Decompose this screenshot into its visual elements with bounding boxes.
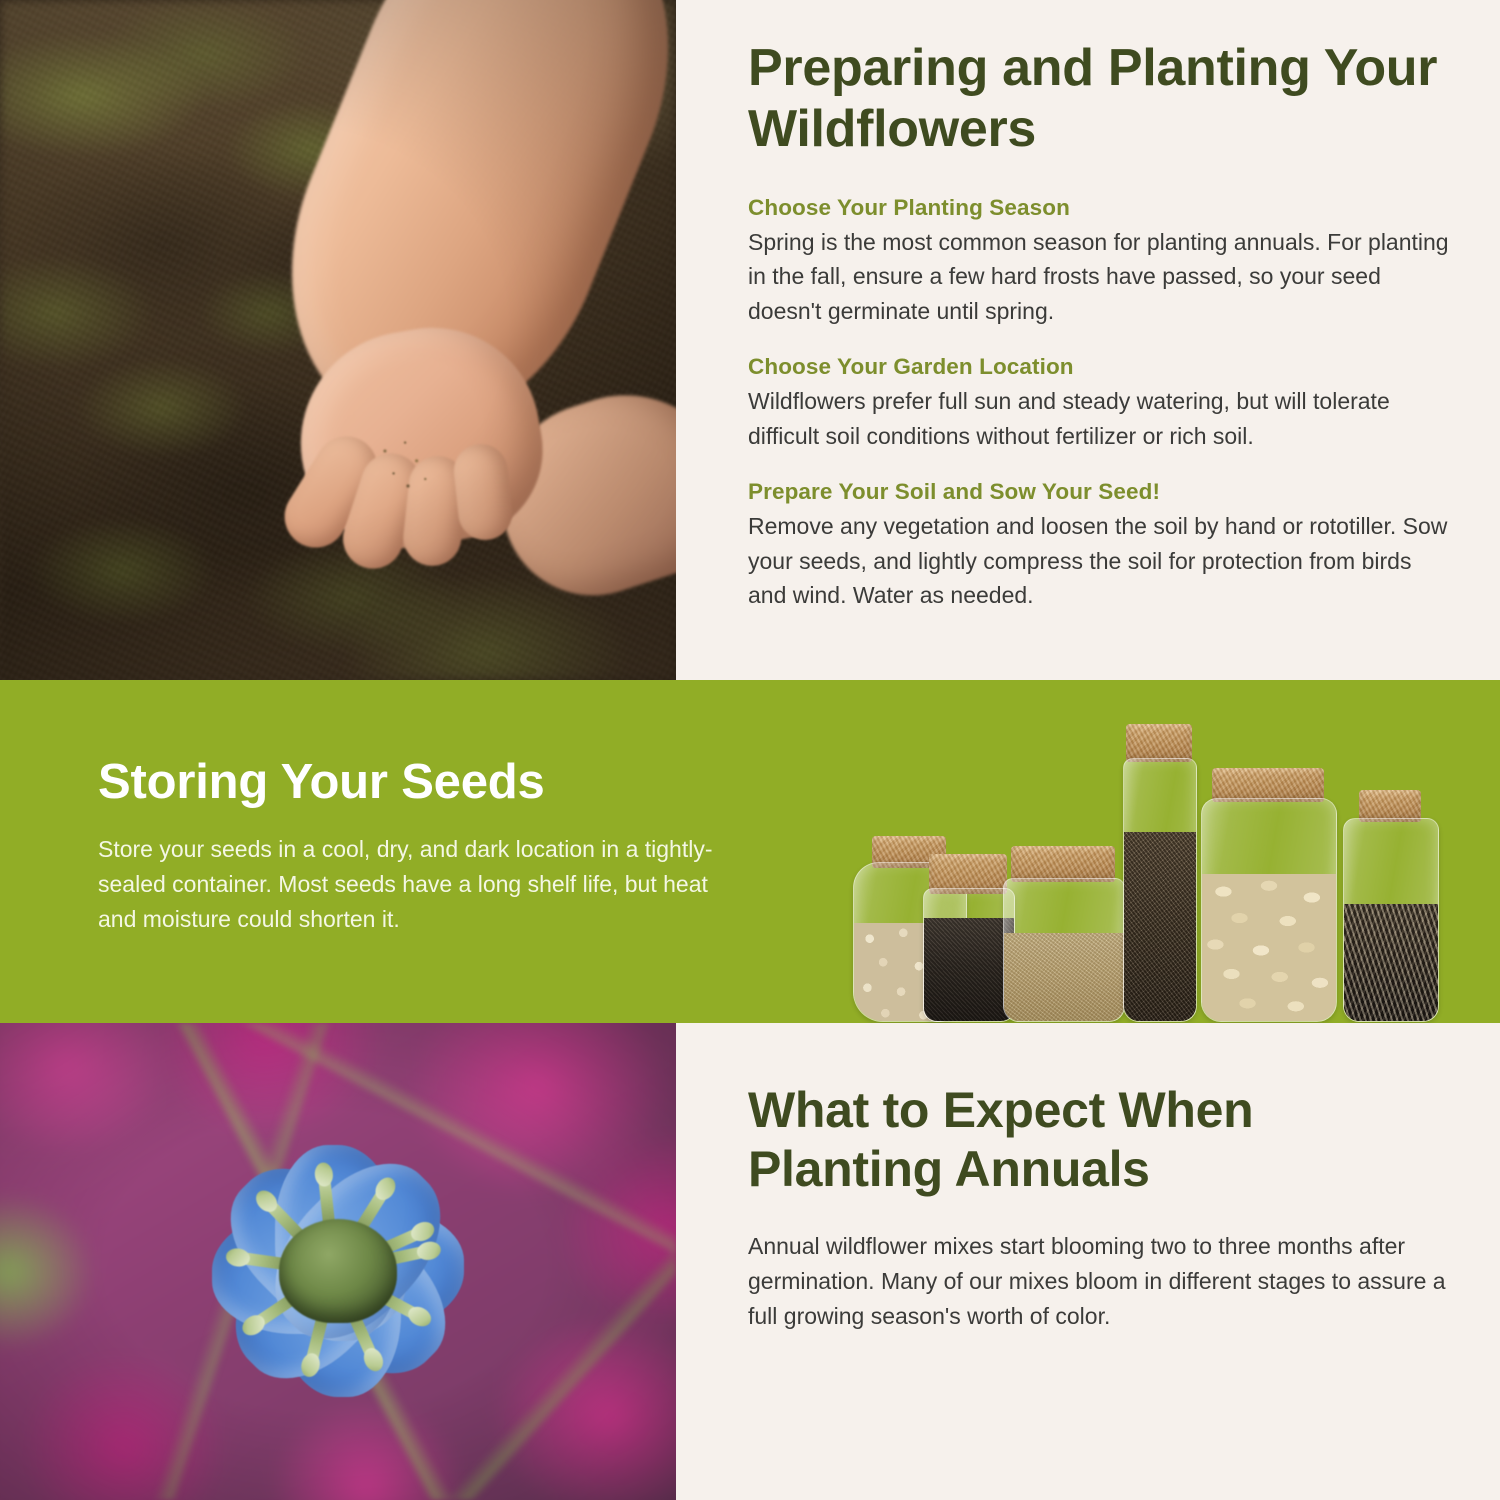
jar-contents bbox=[1004, 933, 1124, 1021]
black-seed-jar bbox=[923, 854, 1013, 1022]
soil-planting-photo bbox=[0, 0, 676, 680]
seed-jars-photo bbox=[845, 692, 1455, 1022]
tan-seed-jar bbox=[1003, 846, 1123, 1022]
section-heading-garden-location: Choose Your Garden Location bbox=[748, 354, 1454, 380]
intro-row: Preparing and Planting Your Wildflowers … bbox=[0, 0, 1500, 680]
intro-section: Choose Your Garden Location Wildflowers … bbox=[748, 354, 1454, 453]
storing-text-column: Storing Your Seeds Store your seeds in a… bbox=[98, 680, 738, 937]
storing-seeds-band: Storing Your Seeds Store your seeds in a… bbox=[0, 680, 1500, 1023]
outro-title: What to Expect When Planting Annuals bbox=[748, 1023, 1454, 1199]
glass-body bbox=[1343, 818, 1439, 1022]
section-body-garden-location: Wildflowers prefer full sun and steady w… bbox=[748, 384, 1454, 453]
section-heading-planting-season: Choose Your Planting Season bbox=[748, 195, 1454, 221]
photo-vignette bbox=[0, 1023, 676, 1500]
glass-body bbox=[1123, 758, 1197, 1022]
photo-vignette bbox=[0, 0, 676, 680]
section-body-prepare-soil: Remove any vegetation and loosen the soi… bbox=[748, 509, 1454, 613]
glass-body bbox=[1003, 878, 1125, 1022]
sunflower-seed-jar bbox=[1343, 790, 1437, 1022]
section-heading-prepare-soil: Prepare Your Soil and Sow Your Seed! bbox=[748, 479, 1454, 505]
section-body-planting-season: Spring is the most common season for pla… bbox=[748, 225, 1454, 329]
outro-row: What to Expect When Planting Annuals Ann… bbox=[0, 1023, 1500, 1500]
jar-contents bbox=[1202, 874, 1336, 1021]
cork-lid bbox=[1126, 724, 1192, 762]
glass-body bbox=[923, 888, 1015, 1022]
glass-body bbox=[1201, 798, 1337, 1022]
jar-contents bbox=[924, 918, 1014, 1021]
outro-body: Annual wildflower mixes start blooming t… bbox=[748, 1229, 1454, 1334]
storing-body: Store your seeds in a cool, dry, and dar… bbox=[98, 832, 738, 937]
blue-flower-photo bbox=[0, 1023, 676, 1500]
jar-contents bbox=[1344, 904, 1438, 1021]
intro-text-column: Preparing and Planting Your Wildflowers … bbox=[748, 0, 1454, 680]
cork-lid bbox=[1212, 768, 1324, 802]
storing-title: Storing Your Seeds bbox=[98, 680, 738, 810]
intro-section: Choose Your Planting Season Spring is th… bbox=[748, 195, 1454, 329]
pumpkin-seed-jar bbox=[1201, 768, 1335, 1022]
outro-text-column: What to Expect When Planting Annuals Ann… bbox=[748, 1023, 1454, 1334]
jar-contents bbox=[1124, 832, 1196, 1021]
cork-lid bbox=[1011, 846, 1115, 882]
tall-dark-seed-jar bbox=[1123, 724, 1195, 1022]
infographic-page: Preparing and Planting Your Wildflowers … bbox=[0, 0, 1500, 1500]
intro-section: Prepare Your Soil and Sow Your Seed! Rem… bbox=[748, 479, 1454, 613]
page-title: Preparing and Planting Your Wildflowers bbox=[748, 0, 1454, 161]
